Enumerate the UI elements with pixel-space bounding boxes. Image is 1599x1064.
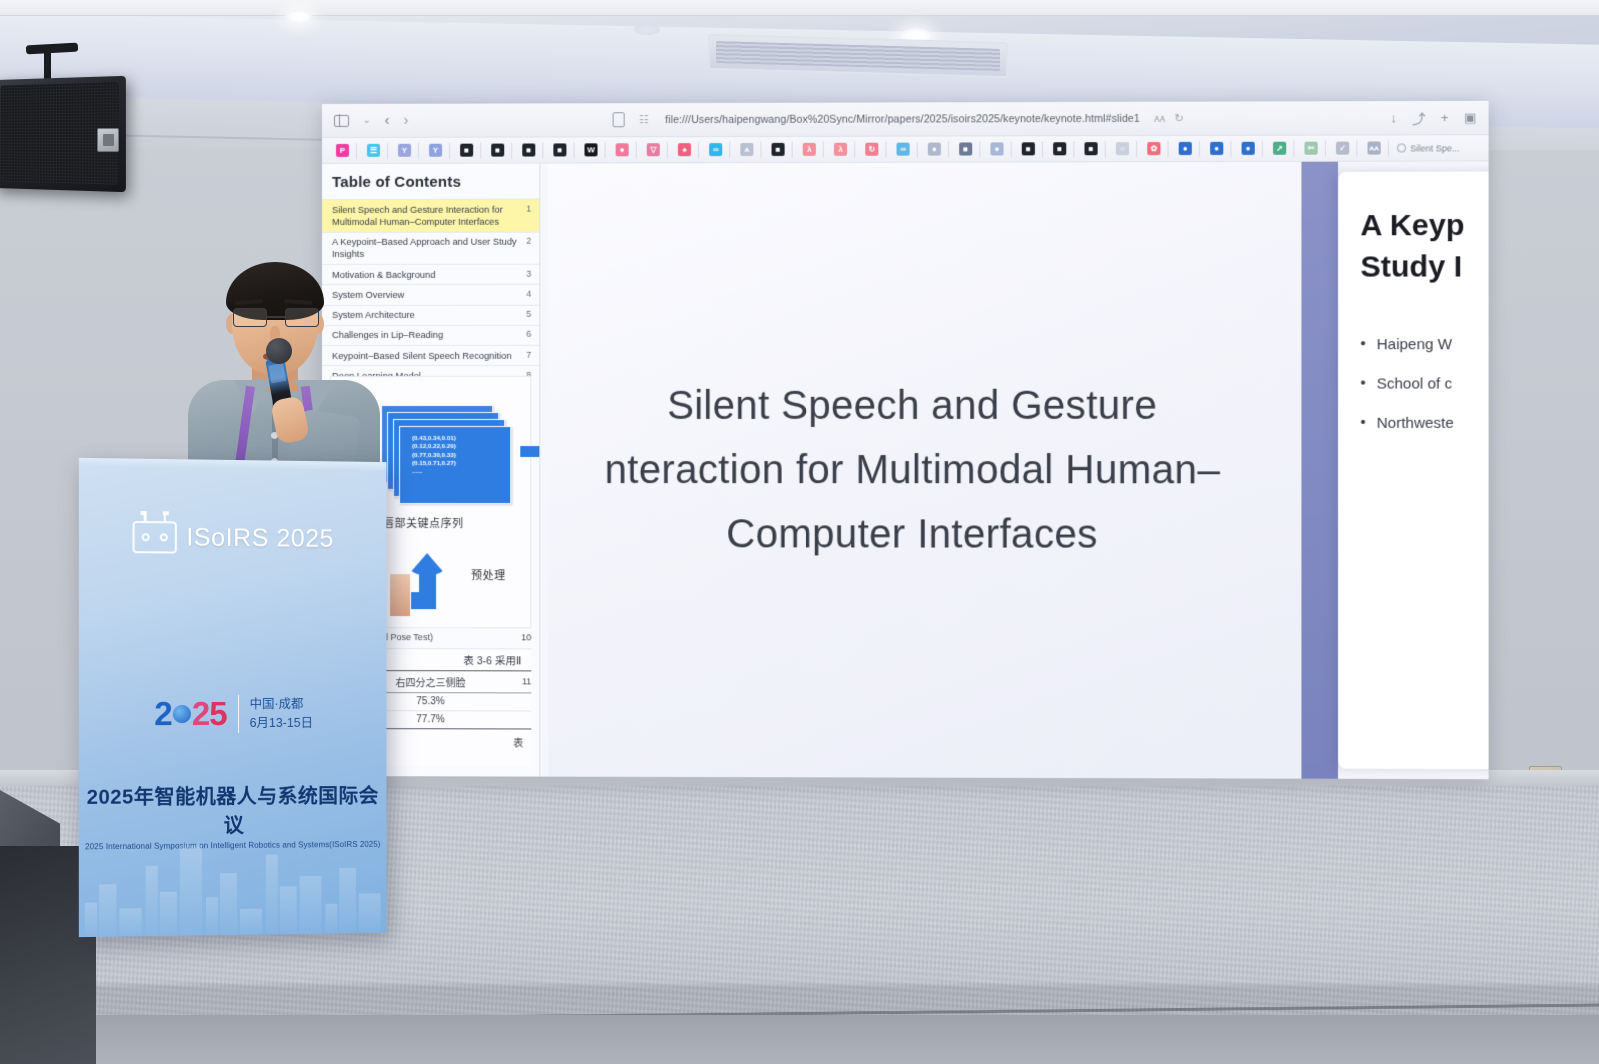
bookmark-27[interactable]: ✿ xyxy=(1139,137,1168,159)
bookmark-7[interactable]: ■ xyxy=(514,139,543,161)
skyline-building xyxy=(99,884,116,937)
bookmark-19[interactable]: ∞ xyxy=(888,138,917,160)
toc-entry-label: Silent Speech and Gesture Interaction fo… xyxy=(332,203,520,228)
bookmark-14[interactable]: ᴀ xyxy=(732,138,761,160)
podium-year-block: 2 2 5 中国·成都 6月13-15日 xyxy=(79,695,387,734)
new-tab-icon[interactable]: + xyxy=(1441,110,1449,125)
glasses-lens xyxy=(285,308,319,327)
bookmark-26[interactable]: ○ xyxy=(1108,138,1137,160)
year-dot-icon xyxy=(173,705,191,723)
keypoint-output-chip xyxy=(519,445,539,458)
browser-toolbar: ⌄ ‹ › ☷ file:///Users/haipengwang/Box%20… xyxy=(322,101,1489,138)
next-bullet: School of c xyxy=(1360,375,1488,392)
city-skyline-graphic xyxy=(79,804,387,937)
sidebar-toggle-icon[interactable] xyxy=(334,114,349,126)
next-bullet: Haipeng W xyxy=(1360,336,1488,353)
favicon-icon: λ xyxy=(803,143,816,156)
table-page-number: 11 xyxy=(522,676,531,686)
slide-title-line: Silent Speech and Gesture xyxy=(605,374,1221,438)
toc-entry-page: 6 xyxy=(526,329,531,341)
toc-entry-page: 5 xyxy=(526,309,531,321)
next-title-line: Study I xyxy=(1360,247,1488,288)
skyline-building xyxy=(280,886,297,934)
favicon-icon: ➚ xyxy=(1273,142,1286,155)
tab-silent-speech[interactable]: Silent Spe... xyxy=(1397,143,1460,153)
download-icon[interactable]: ↓ xyxy=(1390,110,1397,125)
bookmark-20[interactable]: ● xyxy=(920,138,949,160)
keypoint-stack-diagram: (0.43,0.34,0.01) (0.12,0.22,0.20) (0.77,… xyxy=(381,405,511,509)
toc-title: Table of Contents xyxy=(322,174,539,199)
toc-entry-2[interactable]: A Keypoint–Based Approach and User Study… xyxy=(322,231,539,264)
glasses-bridge xyxy=(267,316,285,318)
favicon-icon: ● xyxy=(990,142,1003,155)
favicon-icon: ■ xyxy=(1022,142,1035,155)
back-button[interactable]: ‹ xyxy=(385,113,390,128)
bookmark-8[interactable]: ■ xyxy=(545,139,574,161)
bookmark-25[interactable]: ■ xyxy=(1076,138,1105,160)
tab-label: Silent Spe... xyxy=(1410,143,1459,153)
favicon-icon: ■ xyxy=(553,143,566,156)
keypoint-values: (0.43,0.34,0.01) (0.12,0.22,0.20) (0.77,… xyxy=(400,427,510,477)
slide-title-line: nteraction for Multimodal Human– xyxy=(605,438,1221,502)
podium-logo: ISoIRS 2025 xyxy=(79,520,387,555)
podium: ISoIRS 2025 2 2 5 中国·成都 6月13-15日 2025年智能… xyxy=(79,458,387,937)
favicon-icon: ○ xyxy=(1116,142,1129,155)
bookmark-16[interactable]: λ xyxy=(795,138,824,160)
bookmark-17[interactable]: λ xyxy=(826,138,855,160)
toc-entry-1[interactable]: Silent Speech and Gesture Interaction fo… xyxy=(322,199,539,232)
skyline-building xyxy=(85,903,97,937)
glasses-lens xyxy=(233,308,267,327)
presenter xyxy=(178,262,390,477)
next-slide-preview[interactable]: A Keyp Study I Haipeng W School of c Nor… xyxy=(1338,171,1489,769)
favicon-icon: P xyxy=(336,144,349,157)
skyline-building xyxy=(339,868,356,934)
dates-text: 6月13-15日 xyxy=(250,714,313,733)
skyline-building xyxy=(240,909,262,935)
bookmark-31[interactable]: ➚ xyxy=(1265,137,1294,159)
tab-favicon-icon xyxy=(1397,143,1406,152)
ceiling-lip xyxy=(0,0,1599,16)
divider xyxy=(238,695,239,733)
url-text[interactable]: file:///Users/haipengwang/Box%20Sync/Mir… xyxy=(665,112,1140,125)
bookmark-32[interactable]: ✂ xyxy=(1296,137,1325,159)
page-content: Table of Contents Silent Speech and Gest… xyxy=(322,161,1489,779)
year-digit: 2 xyxy=(192,695,209,733)
bookmark-11[interactable]: ▽ xyxy=(639,139,668,161)
bookmark-4[interactable]: Y xyxy=(421,139,450,161)
toc-entry-page: 1 xyxy=(526,203,531,215)
conference-logo-text: ISoIRS 2025 xyxy=(186,523,334,553)
bookmark-34[interactable]: ᴀᴀ xyxy=(1359,137,1388,159)
bookmark-30[interactable]: ● xyxy=(1233,137,1262,159)
glasses-icon xyxy=(230,308,322,328)
favicon-icon: ● xyxy=(1179,142,1192,155)
bookmark-23[interactable]: ■ xyxy=(1014,138,1043,160)
favicon-icon: ↻ xyxy=(865,143,878,156)
slide-divider-band xyxy=(1301,162,1338,779)
microphone-head xyxy=(266,338,292,364)
skyline-building xyxy=(300,876,322,934)
bookmark-12[interactable]: ♠ xyxy=(670,139,699,161)
stage-front-face xyxy=(0,1015,1599,1064)
skyline-building xyxy=(266,855,278,935)
bookmark-10[interactable]: ● xyxy=(608,139,637,161)
year-digit: 2 xyxy=(154,695,171,733)
downlight-icon xyxy=(634,24,660,35)
favicon-icon: ■ xyxy=(1053,142,1066,155)
favicon-icon: Y xyxy=(429,144,442,157)
favicon-icon: ● xyxy=(616,143,629,156)
toc-entry-page: 2 xyxy=(526,236,531,248)
favicon-icon: ■ xyxy=(460,144,473,157)
chevron-down-icon[interactable]: ⌄ xyxy=(363,115,371,126)
bookmark-18[interactable]: ↻ xyxy=(857,138,886,160)
projection-screen: ⌄ ‹ › ☷ file:///Users/haipengwang/Box%20… xyxy=(322,101,1489,779)
toc-entry-label: A Keypoint–Based Approach and User Study… xyxy=(332,236,520,261)
robot-icon xyxy=(133,521,177,554)
favicon-icon: ✂ xyxy=(1305,142,1318,155)
location-text: 中国·成都 xyxy=(250,695,313,714)
favicon-icon: ✓ xyxy=(1336,142,1349,155)
conference-room-scene: ⌄ ‹ › ☷ file:///Users/haipengwang/Box%20… xyxy=(0,0,1599,1064)
bookmark-29[interactable]: ● xyxy=(1202,137,1231,159)
podium-place-block: 中国·成都 6月13-15日 xyxy=(250,695,313,734)
toc-entry-page: 7 xyxy=(526,349,531,361)
accuracy-page: 10 xyxy=(521,632,531,642)
downlight-icon xyxy=(286,10,312,23)
favicon-icon: ☰ xyxy=(367,144,380,157)
favicon-icon: ■ xyxy=(491,144,504,157)
favicon-icon: ● xyxy=(1210,142,1223,155)
favicon-icon: ● xyxy=(1242,142,1255,155)
bookmark-9[interactable]: W xyxy=(576,139,605,161)
current-slide[interactable]: Silent Speech and Gesture nteraction for… xyxy=(548,162,1307,779)
bookmark-5[interactable]: ■ xyxy=(452,139,481,161)
bookmark-28[interactable]: ● xyxy=(1171,137,1200,159)
skyline-building xyxy=(359,893,381,933)
skyline-building xyxy=(206,897,218,935)
favicon-icon: ♠ xyxy=(678,143,691,156)
skyline-building xyxy=(325,904,337,934)
favicon-icon: ᴀ xyxy=(740,143,753,156)
favicon-icon: ✿ xyxy=(1147,142,1160,155)
bookmark-22[interactable]: ● xyxy=(982,138,1011,160)
bookmark-2[interactable]: ☰ xyxy=(359,139,388,161)
keypoint-sheet-front: (0.43,0.34,0.01) (0.12,0.22,0.20) (0.77,… xyxy=(399,426,511,504)
bookmark-3[interactable]: Y xyxy=(390,139,419,161)
bookmarks-bar: P☰YY■■■■W●▽♠∞ᴀ■λλ↻∞●■●■■■○✿●●●➚✂✓ᴀᴀ Sile… xyxy=(322,135,1489,164)
reader-icon[interactable]: ☷ xyxy=(639,113,651,127)
next-title-line: A Keyp xyxy=(1360,206,1488,247)
keypoint-caption: 唇部关键点序列 xyxy=(383,515,464,531)
toc-entry-page: 3 xyxy=(526,268,531,280)
slide-viewer[interactable]: Silent Speech and Gesture nteraction for… xyxy=(540,161,1488,779)
favicon-icon: Y xyxy=(398,144,411,157)
favicon-icon: ∞ xyxy=(709,143,722,156)
next-slide-title: A Keyp Study I xyxy=(1360,206,1488,288)
next-bullet: Northweste xyxy=(1360,415,1488,432)
vent-louvers xyxy=(716,41,1000,71)
bookmark-1[interactable]: P xyxy=(328,139,357,161)
bookmark-15[interactable]: ■ xyxy=(763,138,792,160)
text-size-icon[interactable]: ᴀᴀ xyxy=(1154,112,1165,124)
next-slide-bullets: Haipeng W School of c Northweste xyxy=(1360,336,1488,432)
year-digit: 5 xyxy=(209,695,226,733)
bookmark-24[interactable]: ■ xyxy=(1045,138,1074,160)
bookmark-21[interactable]: ■ xyxy=(951,138,980,160)
favicon-icon: ● xyxy=(928,143,941,156)
skyline-building xyxy=(146,866,158,936)
bookmark-33[interactable]: ✓ xyxy=(1328,137,1357,159)
share-icon[interactable]: ⤴ xyxy=(1412,108,1425,127)
favicon-icon: ■ xyxy=(522,143,535,156)
favicon-icon: W xyxy=(584,143,597,156)
skyline-building xyxy=(119,908,141,936)
tab-overview-icon[interactable]: ▣ xyxy=(1464,109,1477,125)
favicon-icon: ■ xyxy=(1084,142,1097,155)
slide-title: Silent Speech and Gesture nteraction for… xyxy=(605,374,1221,567)
skyline-building xyxy=(160,892,177,936)
favicon-icon: ▽ xyxy=(647,143,660,156)
reload-icon[interactable]: ↻ xyxy=(1174,112,1183,125)
preprocess-label: 预处理 xyxy=(471,567,506,583)
favicon-icon: ᴀᴀ xyxy=(1368,141,1381,154)
favicon-icon: ■ xyxy=(959,142,972,155)
page-icon xyxy=(613,112,625,127)
favicon-icon: λ xyxy=(834,143,847,156)
favicon-icon: ■ xyxy=(772,143,785,156)
microphone-flag xyxy=(268,363,286,383)
skyline-building xyxy=(220,873,237,935)
bookmark-6[interactable]: ■ xyxy=(483,139,512,161)
skyline-building xyxy=(180,845,202,935)
favicon-icon: ∞ xyxy=(897,143,910,156)
wall-plate xyxy=(97,128,119,152)
bookmark-13[interactable]: ∞ xyxy=(701,139,730,161)
toc-entry-page: 4 xyxy=(526,289,531,301)
address-bar[interactable]: ☷ file:///Users/haipengwang/Box%20Sync/M… xyxy=(409,110,1391,128)
slide-title-line: Computer Interfaces xyxy=(605,502,1221,567)
year-logo: 2 2 5 xyxy=(154,695,226,733)
